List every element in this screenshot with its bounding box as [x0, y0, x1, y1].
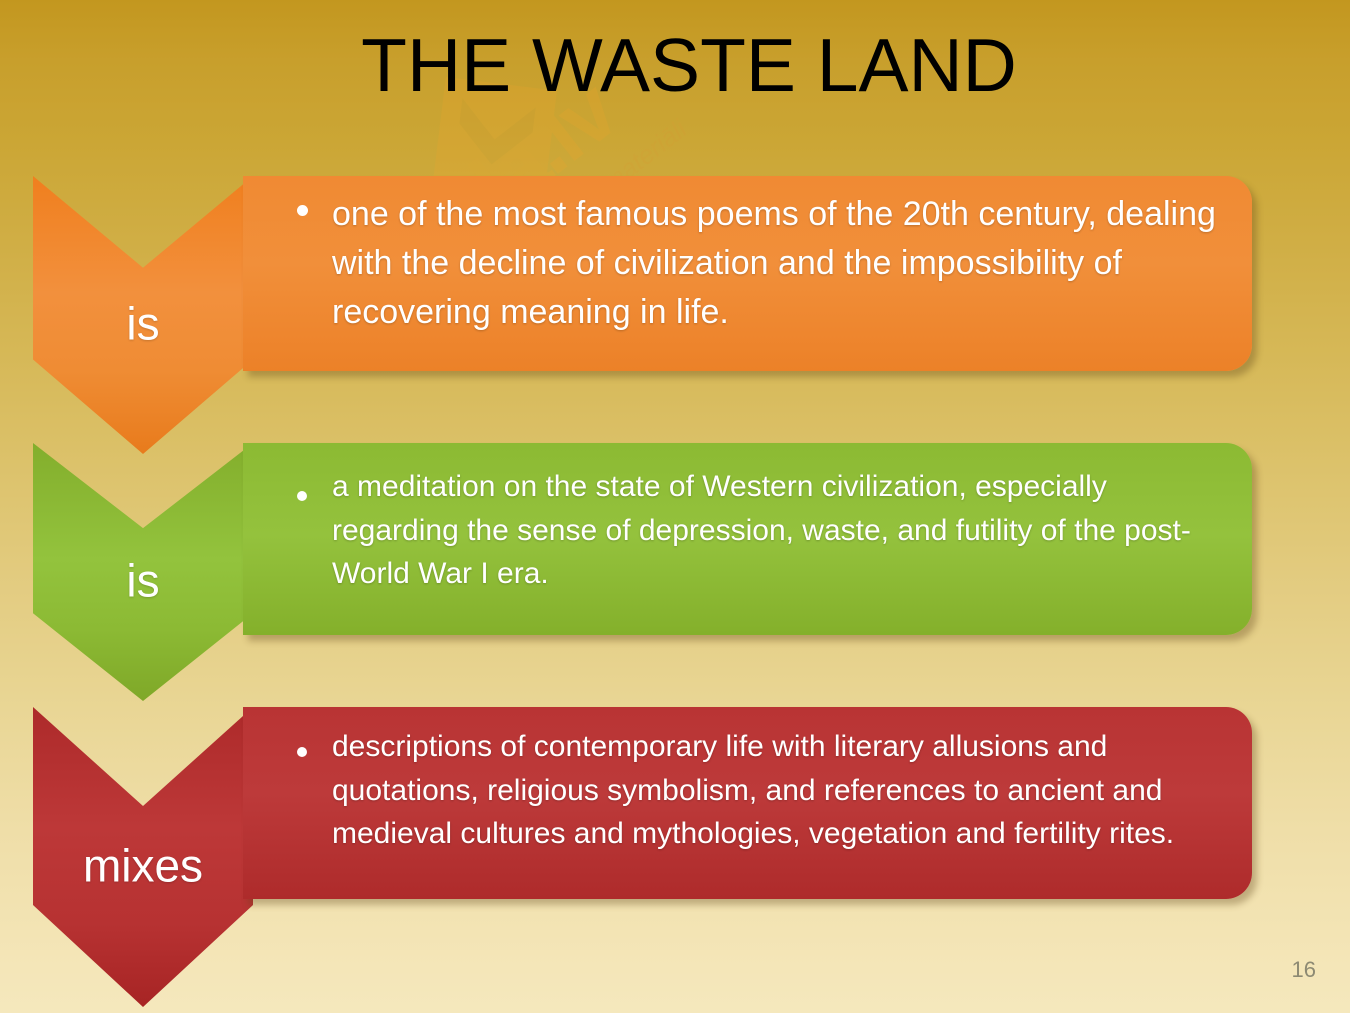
page-number: 16 [1292, 957, 1316, 983]
slide-canvas: skola.lv Mācību materiāli THE WASTE LAND… [0, 0, 1350, 1013]
bullet-row: one of the most famous poems of the 20th… [270, 190, 1230, 337]
bullet-dot-icon [297, 205, 308, 216]
chevron-arrow-is-2: is [33, 443, 253, 701]
bullet-dot-icon [297, 491, 307, 501]
content-panel-3: descriptions of contemporary life with l… [243, 707, 1252, 899]
content-panel-1: one of the most famous poems of the 20th… [243, 176, 1252, 371]
panel-text: descriptions of contemporary life with l… [270, 725, 1230, 856]
chevron-label: is [126, 300, 159, 347]
chevron-arrow-mixes: mixes [33, 707, 253, 1007]
panel-text: a meditation on the state of Western civ… [270, 465, 1230, 596]
content-panel-2: a meditation on the state of Western civ… [243, 443, 1252, 635]
bullet-row: descriptions of contemporary life with l… [270, 725, 1230, 856]
page-title: THE WASTE LAND [0, 26, 1350, 105]
chevron-arrow-is-1: is [33, 176, 253, 454]
panel-text: one of the most famous poems of the 20th… [270, 190, 1230, 337]
chevron-label: is [126, 557, 159, 604]
chevron-label: mixes [83, 842, 203, 889]
bullet-row: a meditation on the state of Western civ… [270, 465, 1230, 596]
bullet-dot-icon [297, 747, 307, 757]
